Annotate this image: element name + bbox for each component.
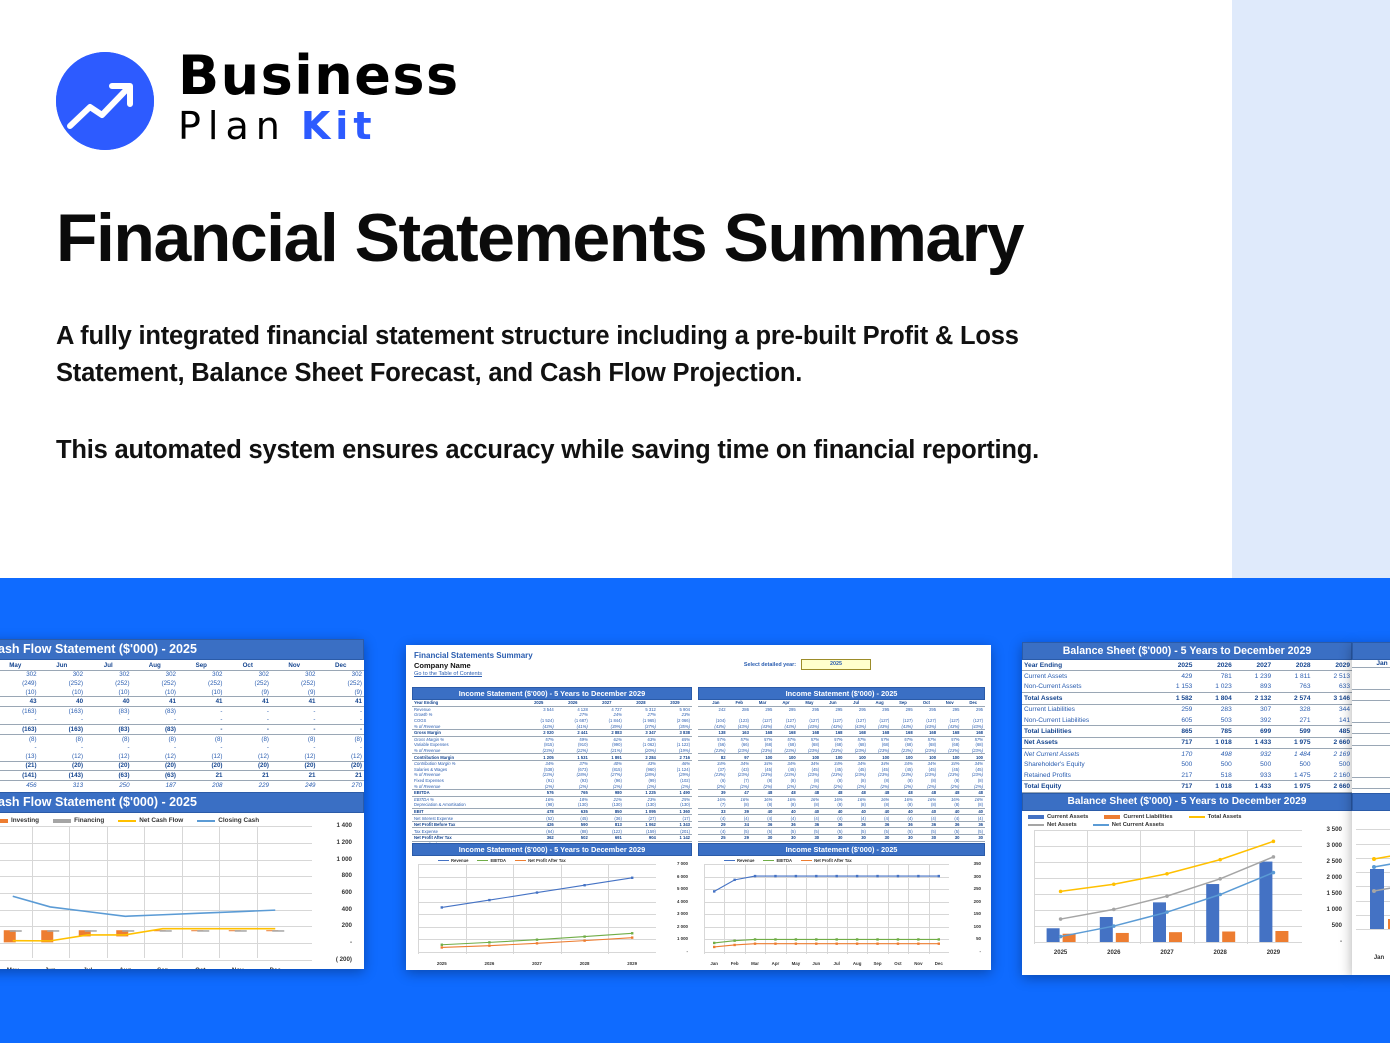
- table-cell: (83): [85, 706, 131, 715]
- table-cell: (63): [132, 771, 178, 781]
- legend-swatch: [438, 860, 449, 862]
- legend-label: Investing: [11, 817, 39, 824]
- table-cell: (4): [938, 815, 961, 822]
- table-cell: 48: [751, 789, 774, 796]
- table-cell: (4): [751, 815, 774, 822]
- x-axis-tick: Dec: [265, 967, 285, 969]
- table-cell: (163): [0, 725, 39, 735]
- table-cell: -: [0, 716, 39, 725]
- screenshot-cash-flow[interactable]: Cash Flow Statement ($'000) - 2025 MayJu…: [0, 639, 364, 969]
- table-cell: (20): [224, 761, 270, 771]
- table-cell: 635: [556, 808, 590, 815]
- table-cell: 12: [1352, 767, 1390, 778]
- table-header-row: Jan: [1352, 660, 1390, 668]
- table-row: 293436363636363636363636: [698, 821, 985, 828]
- table-cell: 1 297: [1352, 689, 1390, 700]
- table-cell: 21: [178, 771, 224, 781]
- legend-item: Total Assets: [1189, 814, 1242, 820]
- table-row: (141)(143)(63)(63)21212121: [0, 771, 364, 781]
- screenshot-showcase-band: Cash Flow Statement ($'000) - 2025 MayJu…: [0, 578, 1390, 1043]
- monthly-is-table: JanFebMarAprMayJunJulAugSepOctNovDec2422…: [698, 700, 985, 847]
- year-selector-input[interactable]: 2025: [801, 659, 871, 670]
- table-row: Tax Expense(64)(88)(122)(159)(201): [412, 828, 692, 835]
- table-cell: -: [132, 743, 178, 752]
- table-cell: 271: [1273, 715, 1312, 726]
- x-axis-tick: Feb: [726, 961, 744, 966]
- table-cell: (12): [178, 752, 224, 761]
- table-cell: 362: [522, 835, 556, 842]
- legend-label: Current Liabilities: [1123, 814, 1172, 820]
- x-axis-tick: 2028: [576, 961, 594, 966]
- table-cell: 36: [821, 821, 844, 828]
- table-cell: 100: [821, 754, 844, 761]
- column-header: 2026: [1194, 660, 1233, 671]
- table-row: 12: [1352, 767, 1390, 778]
- table-cell: 40: [774, 808, 797, 815]
- table-cell: 33: [704, 808, 727, 815]
- row-label: Total Liabilities: [1022, 726, 1155, 737]
- y-axis-tick: 1 200: [337, 839, 352, 846]
- y-axis-tick: 1 400: [337, 822, 352, 829]
- table-cell: -: [178, 743, 224, 752]
- table-cell: 502: [556, 835, 590, 842]
- column-header: 2029: [1313, 660, 1352, 671]
- legend-label: Revenue: [451, 858, 468, 863]
- table-cell: 2 169: [1313, 749, 1352, 760]
- table-cell: 500: [1352, 756, 1390, 766]
- table-cell: 500: [1155, 760, 1194, 770]
- x-axis-tick: Jul: [78, 967, 98, 969]
- table-of-contents-link[interactable]: Go to the Table of Contents: [414, 671, 991, 677]
- table-cell: 302: [317, 670, 364, 679]
- table-row: (4)(5)(5)(5)(5)(5)(5)(5)(5)(5)(5)(5): [698, 828, 985, 835]
- table-cell: (4): [704, 828, 727, 835]
- monthly-is-chart-block: Income Statement ($'000) - 2025 RevenueE…: [698, 843, 985, 968]
- row-label: Net Interest Expense: [412, 815, 522, 822]
- table-cell: (8): [132, 734, 178, 743]
- legend-label: Current Assets: [1047, 814, 1088, 820]
- row-label: Non-Current Assets: [1022, 682, 1155, 693]
- table-cell: 692: [1352, 712, 1390, 723]
- table-cell: 48: [821, 789, 844, 796]
- cash-flow-table: MayJunJulAugSepOctNovDec3023023023023023…: [0, 661, 364, 789]
- column-header: Aug: [132, 661, 178, 670]
- x-axis-tick: Nov: [228, 967, 248, 969]
- table-row: 786: [1352, 722, 1390, 733]
- table-cell: 1 360: [658, 808, 692, 815]
- x-axis-tick: 2028: [1204, 950, 1236, 956]
- table-cell: 1 433: [1234, 737, 1273, 748]
- table-cell: 1 018: [1194, 737, 1233, 748]
- table-cell: 208: [178, 780, 224, 789]
- table-cell: (163): [39, 706, 85, 715]
- table-row: EBIT4786358501 0951 360: [412, 808, 692, 815]
- growth-arrow-circle-icon: [56, 52, 154, 150]
- table-cell: 691: [590, 835, 624, 842]
- table-cell: (252): [85, 679, 131, 688]
- row-label: Net Profit After Tax: [412, 835, 522, 842]
- table-cell: 48: [845, 789, 868, 796]
- table-cell: 40: [961, 808, 985, 815]
- table-cell: (8): [0, 734, 39, 743]
- table-cell: 980: [590, 789, 624, 796]
- table-cell: (9): [224, 688, 270, 697]
- table-cell: 605: [1155, 715, 1194, 726]
- row-label: Net Profit Before Tax: [412, 821, 522, 828]
- column-header: Jan: [1352, 660, 1390, 668]
- table-cell: 2 883: [590, 729, 624, 736]
- table-cell: (36): [590, 815, 624, 822]
- table-cell: 163: [728, 729, 751, 736]
- table-cell: 30: [868, 835, 891, 842]
- table-cell: (83): [85, 725, 131, 735]
- table-row: Total Liabilities865785699599485: [1022, 726, 1352, 737]
- row-label: Non-Current Liabilities: [1022, 715, 1155, 726]
- legend-swatch: [53, 819, 71, 823]
- table-row: EBITDA5767659801 2251 490: [412, 789, 692, 796]
- row-label: EBIT: [412, 808, 522, 815]
- table-row: 8297100100100100100100100100100100: [698, 754, 985, 761]
- row-label: Net Current Assets: [1022, 749, 1155, 760]
- table-cell: (10): [39, 688, 85, 697]
- table-cell: 699: [1234, 726, 1273, 737]
- balance-sheet-chart: 3 5003 0002 5002 0001 5001 000500-202520…: [1028, 830, 1346, 958]
- table-cell: (12): [317, 752, 364, 761]
- table-cell: (252): [224, 679, 270, 688]
- table-row: 500: [1352, 756, 1390, 766]
- hero-side-panel: [1232, 0, 1390, 578]
- column-header: Jun: [39, 661, 85, 670]
- table-cell: 82: [704, 754, 727, 761]
- screenshot-balance-sheet-partial[interactable]: Jan1 1741241 297936927865121 08150012512…: [1352, 642, 1390, 975]
- table-cell: 328: [1273, 704, 1312, 715]
- table-cell: 41: [224, 697, 270, 707]
- x-axis-tick: Oct: [889, 961, 907, 966]
- table-row: 692: [1352, 712, 1390, 723]
- table-cell: 1 225: [624, 789, 658, 796]
- table-cell: (12): [39, 752, 85, 761]
- column-header: Year Ending: [1022, 660, 1155, 671]
- row-label: Total Equity: [1022, 781, 1155, 792]
- table-cell: 1 023: [1194, 682, 1233, 693]
- table-cell: 43: [0, 697, 39, 707]
- table-cell: 30: [961, 835, 985, 842]
- table-cell: (20): [85, 761, 131, 771]
- table-row: Net Current Assets1704989321 4842 169: [1022, 749, 1352, 760]
- table-cell: (249): [0, 679, 39, 688]
- table-row: Contribution Margin1 2051 5311 8912 2842…: [412, 754, 692, 761]
- table-cell: (5): [728, 828, 751, 835]
- table-row: 512: [1352, 734, 1390, 745]
- table-cell: 1 531: [556, 754, 590, 761]
- table-cell: 307: [1234, 704, 1273, 715]
- table-cell: (4): [728, 815, 751, 822]
- financial-summary-header: Financial Statements Summary Company Nam…: [406, 645, 991, 677]
- table-cell: 717: [1155, 781, 1194, 792]
- screenshot-financial-summary[interactable]: Financial Statements Summary Company Nam…: [406, 645, 991, 970]
- table-cell: 36: [868, 821, 891, 828]
- table-row: (163)(163)(83)(83)----: [0, 706, 364, 715]
- year-selector-label: Select detailed year:: [744, 662, 796, 668]
- table-cell: 2 660: [1313, 781, 1352, 792]
- table-cell: 1 018: [1194, 781, 1233, 792]
- table-cell: 500: [1313, 760, 1352, 770]
- x-axis-tick: 2029: [623, 961, 641, 966]
- brand-word-kit: Kit: [301, 102, 377, 150]
- table-cell: 39: [704, 789, 727, 796]
- legend-label: Financing: [74, 817, 104, 824]
- table-cell: 47: [728, 789, 751, 796]
- table-cell: 25: [704, 835, 727, 842]
- legend-label: Net Profit After Tax: [814, 858, 852, 863]
- legend-swatch: [197, 820, 215, 822]
- legend-label: Net Profit After Tax: [528, 858, 566, 863]
- table-cell: 932: [1234, 749, 1273, 760]
- table-cell: 2 020: [522, 729, 556, 736]
- legend-item: Net Profit After Tax: [801, 858, 852, 863]
- x-axis-tick: Sep: [153, 967, 173, 969]
- table-cell: 40: [751, 808, 774, 815]
- x-axis-tick: Sep: [869, 961, 887, 966]
- y-axis-tick: 600: [342, 889, 352, 896]
- table-cell: -: [85, 743, 131, 752]
- table-cell: -: [317, 716, 364, 725]
- x-axis-tick: Jul: [828, 961, 846, 966]
- x-axis-tick: Mar: [746, 961, 764, 966]
- table-row: 394748484848484848484848: [698, 789, 985, 796]
- table-cell: 40: [85, 697, 131, 707]
- table-cell: 1 490: [658, 789, 692, 796]
- table-cell: 29: [704, 821, 727, 828]
- table-cell: 168: [821, 729, 844, 736]
- table-cell: 1 153: [1155, 682, 1194, 693]
- table-cell: 1 811: [1273, 671, 1312, 682]
- table-cell: (63): [85, 771, 131, 781]
- table-row: Net Interest Expense(52)(45)(36)(27)(17): [412, 815, 692, 822]
- table-cell: 138: [704, 729, 727, 736]
- table-cell: 187: [132, 780, 178, 789]
- table-cell: 2 513: [1313, 671, 1352, 682]
- table-cell: 40: [39, 697, 85, 707]
- table-cell: 48: [891, 789, 914, 796]
- table-cell: (4): [845, 815, 868, 822]
- table-row: 512: [1352, 777, 1390, 788]
- table-cell: 456: [0, 780, 39, 789]
- table-cell: (5): [821, 828, 844, 835]
- table-cell: (8): [39, 734, 85, 743]
- year-selector[interactable]: Select detailed year: 2025: [744, 659, 871, 670]
- table-cell: 302: [271, 670, 317, 679]
- table-cell: 302: [85, 670, 131, 679]
- table-cell: (88): [556, 828, 590, 835]
- legend-item: Net Cash Flow: [118, 817, 183, 824]
- table-row: (4)(4)(4)(4)(4)(4)(4)(4)(4)(4)(4)(4): [698, 815, 985, 822]
- table-cell: 302: [132, 670, 178, 679]
- table-cell: -: [178, 706, 224, 715]
- table-cell: 2 716: [658, 754, 692, 761]
- table-header-row: Year Ending20252026202720282029: [1022, 660, 1352, 671]
- x-axis-tick: 2025: [433, 961, 451, 966]
- table-cell: (45): [556, 815, 590, 822]
- legend-row: Current AssetsCurrent LiabilitiesTotal A…: [1028, 814, 1352, 820]
- table-cell: (4): [868, 815, 891, 822]
- table-cell: 36: [798, 821, 821, 828]
- table-row: 456313250187208229249270: [0, 780, 364, 789]
- table-cell: 40: [845, 808, 868, 815]
- table-cell: -: [271, 716, 317, 725]
- x-axis-tick: May: [787, 961, 805, 966]
- table-cell: 1 095: [624, 808, 658, 815]
- x-axis-tick: May: [3, 967, 23, 969]
- x-axis-tick: 2026: [1098, 950, 1130, 956]
- table-cell: 1 582: [1155, 693, 1194, 704]
- table-row: (13)(12)(12)(12)(12)(12)(12)(12): [0, 752, 364, 761]
- legend-item: Revenue: [724, 858, 754, 863]
- table-cell: (4): [961, 815, 985, 822]
- table-cell: 48: [961, 789, 985, 796]
- table-cell: (252): [178, 679, 224, 688]
- table-cell: 599: [1273, 726, 1312, 737]
- table-cell: 40: [915, 808, 938, 815]
- table-cell: 30: [891, 835, 914, 842]
- screenshot-balance-sheet[interactable]: Balance Sheet ($'000) - 5 Years to Decem…: [1022, 642, 1352, 975]
- table-cell: 3 347: [624, 729, 658, 736]
- table-cell: 933: [1234, 770, 1273, 781]
- table-cell: (4): [798, 815, 821, 822]
- table-cell: 1 804: [1194, 693, 1233, 704]
- table-cell: -: [224, 706, 270, 715]
- annual-is-title: Income Statement ($'000) - 5 Years to De…: [412, 687, 692, 700]
- x-axis-tick: Aug: [848, 961, 866, 966]
- legend-swatch: [477, 860, 488, 862]
- table-cell: 865: [1155, 726, 1194, 737]
- table-cell: (4): [891, 815, 914, 822]
- table-cell: -: [39, 716, 85, 725]
- table-cell: (20): [317, 761, 364, 771]
- table-cell: (83): [132, 725, 178, 735]
- row-label: Current Liabilities: [1022, 704, 1155, 715]
- table-cell: 40: [868, 808, 891, 815]
- legend-item: Revenue: [438, 858, 468, 863]
- x-axis-tick: Oct: [190, 967, 210, 969]
- table-cell: (5): [845, 828, 868, 835]
- legend-label: Closing Cash: [218, 817, 259, 824]
- table-cell: (64): [522, 828, 556, 835]
- table-cell: 40: [821, 808, 844, 815]
- table-cell: 1 205: [522, 754, 556, 761]
- table-cell: 1 975: [1273, 737, 1312, 748]
- table-row: 302302302302302302302302: [0, 670, 364, 679]
- table-cell: 1 343: [658, 821, 692, 828]
- balance-sheet-partial-table: Jan1 1741241 297936927865121 08150012512: [1352, 660, 1390, 789]
- table-cell: -: [224, 716, 270, 725]
- table-row: 333940404040404040404040: [698, 808, 985, 815]
- table-cell: (5): [751, 828, 774, 835]
- balance-sheet-chart-title: Balance Sheet ($'000) - 5 Years to Decem…: [1022, 793, 1352, 811]
- table-cell: 429: [1155, 671, 1194, 682]
- table-cell: 168: [774, 729, 797, 736]
- x-axis-tick: Jun: [807, 961, 825, 966]
- table-cell: (163): [39, 725, 85, 735]
- table-cell: -: [271, 725, 317, 735]
- table-cell: 168: [798, 729, 821, 736]
- table-cell: -: [271, 743, 317, 752]
- table-cell: -: [39, 743, 85, 752]
- table-cell: 141: [1313, 715, 1352, 726]
- table-cell: 36: [938, 821, 961, 828]
- table-cell: 40: [891, 808, 914, 815]
- legend-label: Net Current Assets: [1112, 822, 1164, 828]
- table-cell: 41: [317, 697, 364, 707]
- table-cell: (5): [915, 828, 938, 835]
- table-cell: 850: [590, 808, 624, 815]
- table-row: Contribution Margin %34%37%40%43%46%: [412, 760, 692, 766]
- cash-flow-chart-title: Cash Flow Statement ($'000) - 2025: [0, 792, 364, 813]
- table-row: 4340404141414141: [0, 697, 364, 707]
- column-header: 2027: [1234, 660, 1273, 671]
- table-cell: 93: [1352, 701, 1390, 712]
- table-cell: 1 433: [1234, 781, 1273, 792]
- y-axis-tick: 200: [342, 922, 352, 929]
- table-cell: 48: [915, 789, 938, 796]
- legend-swatch: [515, 860, 526, 862]
- table-cell: 36: [915, 821, 938, 828]
- table-cell: 30: [798, 835, 821, 842]
- y-axis-tick: 800: [342, 872, 352, 879]
- table-cell: 3 146: [1313, 693, 1352, 704]
- table-cell: 41: [271, 697, 317, 707]
- table-row: (8)(8)(8)(8)(8)(8)(8)(8): [0, 734, 364, 743]
- table-cell: 48: [938, 789, 961, 796]
- table-cell: 785: [1194, 726, 1233, 737]
- table-cell: 3 838: [658, 729, 692, 736]
- table-row: Gross Margin2 0202 4412 8833 3473 838: [412, 729, 692, 736]
- table-cell: 1 062: [624, 821, 658, 828]
- table-cell: 283: [1194, 704, 1233, 715]
- legend-swatch: [1104, 815, 1120, 819]
- table-cell: (163): [0, 706, 39, 715]
- table-cell: 21: [271, 771, 317, 781]
- table-cell: 124: [1352, 678, 1390, 689]
- table-cell: 1 239: [1234, 671, 1273, 682]
- table-cell: -: [271, 706, 317, 715]
- column-header: Jul: [85, 661, 131, 670]
- table-cell: 40: [798, 808, 821, 815]
- annual-is-table: Year Ending20252026202720282029Revenue3 …: [412, 700, 692, 847]
- table-row: Total Assets1 5821 8042 1322 5743 146: [1022, 693, 1352, 704]
- y-axis-tick: -: [350, 939, 352, 946]
- table-cell: 270: [317, 780, 364, 789]
- table-row: 1 174: [1352, 668, 1390, 679]
- table-cell: 21: [224, 771, 270, 781]
- table-cell: 302: [39, 670, 85, 679]
- row-label: Shareholder's Equity: [1022, 760, 1155, 770]
- table-cell: 168: [845, 729, 868, 736]
- table-cell: 36: [751, 821, 774, 828]
- table-cell: 41: [132, 697, 178, 707]
- table-row: 93: [1352, 701, 1390, 712]
- brand-word-plan: Plan: [178, 102, 287, 150]
- table-cell: 498: [1194, 749, 1233, 760]
- table-row: --------: [0, 743, 364, 752]
- table-row: (163)(163)(83)(83)----: [0, 725, 364, 735]
- table-cell: 893: [1234, 682, 1273, 693]
- table-cell: -: [317, 706, 364, 715]
- legend-item: Net Profit After Tax: [515, 858, 566, 863]
- table-cell: 30: [845, 835, 868, 842]
- table-cell: 48: [774, 789, 797, 796]
- cash-flow-chart-legend: InvestingFinancingNet Cash FlowClosing C…: [0, 813, 364, 826]
